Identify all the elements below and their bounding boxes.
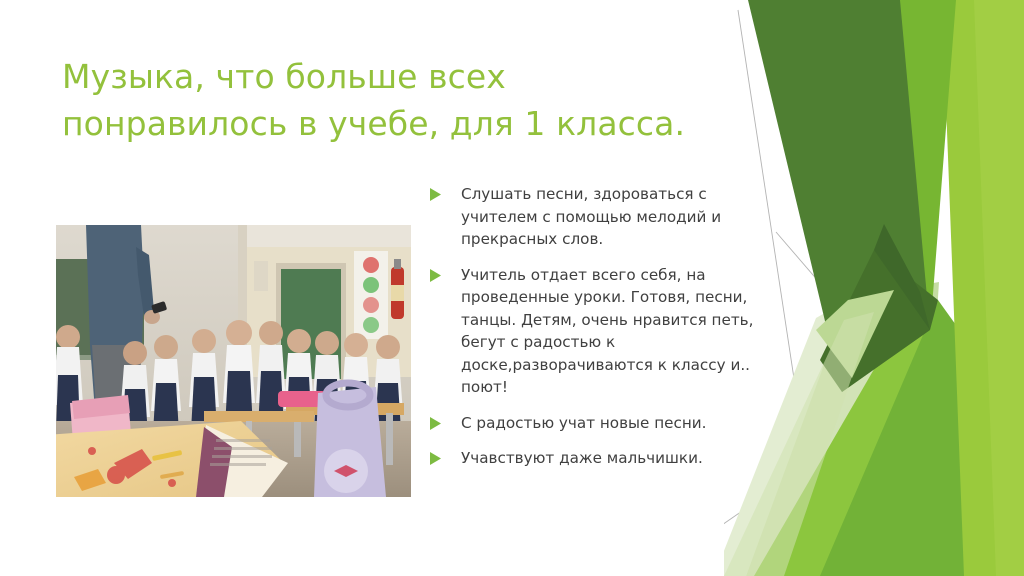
shape-mid-green-lower [820, 300, 1024, 576]
hairline-3 [776, 232, 1024, 520]
list-item: Учитель отдает всего себя, на проведенны… [430, 264, 782, 399]
bullet-list: Слушать песни, здороваться с учителем с … [430, 183, 782, 483]
photo-fire-extinguisher-top [394, 259, 401, 269]
list-item: Учавствуют даже мальчишки. [430, 447, 782, 470]
photo-poster-icon-3 [363, 297, 379, 313]
shape-bright-green-top [874, 0, 956, 332]
list-item-text: Учитель отдает всего себя, на проведенны… [461, 264, 782, 399]
photo-pupil [151, 335, 181, 433]
photo-poster-icon-2 [363, 277, 379, 293]
shape-pale-wedge-b [828, 282, 939, 576]
photo-door-frame [276, 263, 346, 269]
photo-poster-icon-4 [363, 317, 379, 333]
triangle-right-icon [430, 188, 441, 201]
photo-fire-extinguisher-label [391, 285, 404, 301]
shape-mid-green-wedge [820, 250, 938, 392]
list-item-text: Слушать песни, здороваться с учителем с … [461, 183, 782, 251]
slide-title: Музыка, что больше всех понравилось в уч… [62, 54, 722, 148]
list-item: С радостью учат новые песни. [430, 412, 782, 435]
classroom-photo-image [56, 225, 411, 497]
list-item-text: С радостью учат новые песни. [461, 412, 782, 435]
presentation-slide: Музыка, что больше всех понравилось в уч… [0, 0, 1024, 576]
photo-desk-mid [204, 411, 314, 422]
shape-lime-right-inner [974, 0, 1024, 576]
shape-dark-green-tip [874, 224, 930, 330]
shape-lime-right-column [942, 0, 1024, 576]
photo-poster-icon-1 [363, 257, 379, 273]
shape-light-green-lower [754, 290, 1024, 576]
photo-small-poster [254, 261, 268, 291]
classroom-photo [56, 225, 411, 497]
shape-pale-sliver [816, 290, 894, 378]
list-item-text: Учавствуют даже мальчишки. [461, 447, 782, 470]
triangle-right-icon [430, 269, 441, 282]
triangle-right-icon [430, 452, 441, 465]
triangle-right-icon [430, 417, 441, 430]
photo-desk-right-leg-2 [386, 413, 393, 465]
list-item: Слушать песни, здороваться с учителем с … [430, 183, 782, 251]
